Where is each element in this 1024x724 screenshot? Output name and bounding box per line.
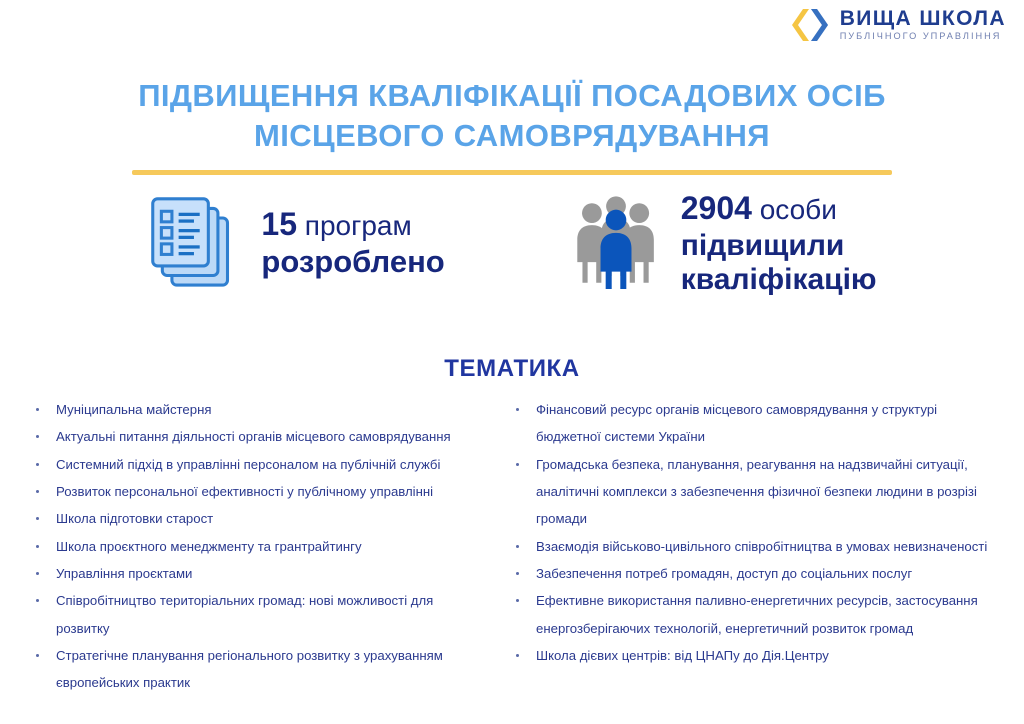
logo-title: ВИЩА ШКОЛА [840, 8, 1006, 29]
list-item: Школа підготовки старост [30, 505, 482, 532]
topic-list-right: Фінансовий ресурс органів місцевого само… [510, 396, 1002, 669]
stat-people-line1: 2904 особи [681, 194, 837, 225]
stat-people-unit: особи [760, 194, 837, 225]
stat-people-emphasis: підвищили [681, 230, 877, 262]
list-item: Громадська безпека, планування, реагуван… [510, 451, 1002, 533]
stat-programs-emphasis: розроблено [261, 246, 444, 279]
title-block: ПІДВИЩЕННЯ КВАЛІФІКАЦІЇ ПОСАДОВИХ ОСІБ М… [0, 76, 1024, 175]
list-item: Взаємодія військово-цивільного співробіт… [510, 533, 1002, 560]
stat-programs-unit: програм [305, 210, 412, 241]
stat-people-text: 2904 особи підвищили кваліфікацію [681, 192, 877, 296]
stat-people-emphasis-2: кваліфікацію [681, 264, 877, 296]
list-item: Фінансовий ресурс органів місцевого само… [510, 396, 1002, 451]
list-item: Управління проєктами [30, 560, 482, 587]
stat-programs-number: 15 [261, 206, 297, 242]
list-item: Школа дієвих центрів: від ЦНАПу до Дія.Ц… [510, 642, 1002, 669]
brand-logo: ВИЩА ШКОЛА ПУБЛІЧНОГО УПРАВЛІННЯ [789, 6, 1006, 44]
list-item: Системний підхід в управлінні персоналом… [30, 451, 482, 478]
list-item: Ефективне використання паливно-енергетич… [510, 587, 1002, 642]
stat-programs-text: 15 програм розроблено [261, 208, 444, 279]
stat-people: 2904 особи підвищили кваліфікацію [573, 192, 877, 296]
title-divider [132, 170, 892, 175]
topics-heading: ТЕМАТИКА [0, 355, 1024, 383]
vyshcha-shkola-logo-mark [789, 6, 833, 44]
logo-subtitle: ПУБЛІЧНОГО УПРАВЛІННЯ [840, 32, 1006, 41]
topics-column-right: Фінансовий ресурс органів місцевого само… [500, 396, 1024, 669]
list-item: Актуальні питання діяльності органів міс… [30, 423, 482, 450]
list-item: Співробітництво територіальних громад: н… [30, 587, 482, 642]
statistics-row: 15 програм розроблено [0, 192, 1024, 296]
topics-columns: Муніципальна майстерня Актуальні питання… [0, 396, 1024, 697]
topics-column-left: Муніципальна майстерня Актуальні питання… [0, 396, 500, 697]
list-item: Муніципальна майстерня [30, 396, 482, 423]
documents-stack-icon [147, 193, 239, 294]
page-title: ПІДВИЩЕННЯ КВАЛІФІКАЦІЇ ПОСАДОВИХ ОСІБ М… [102, 76, 922, 155]
stat-people-number: 2904 [681, 190, 752, 226]
people-group-icon [573, 194, 659, 294]
list-item: Забезпечення потреб громадян, доступ до … [510, 560, 1002, 587]
list-item: Школа проєктного менеджменту та грантрай… [30, 533, 482, 560]
stat-programs: 15 програм розроблено [147, 192, 444, 296]
list-item: Розвиток персональної ефективності у пуб… [30, 478, 482, 505]
logo-text-block: ВИЩА ШКОЛА ПУБЛІЧНОГО УПРАВЛІННЯ [840, 8, 1006, 41]
stat-programs-line1: 15 програм [261, 210, 411, 241]
list-item: Стратегічне планування регіонального роз… [30, 642, 482, 697]
topic-list-left: Муніципальна майстерня Актуальні питання… [30, 396, 482, 697]
